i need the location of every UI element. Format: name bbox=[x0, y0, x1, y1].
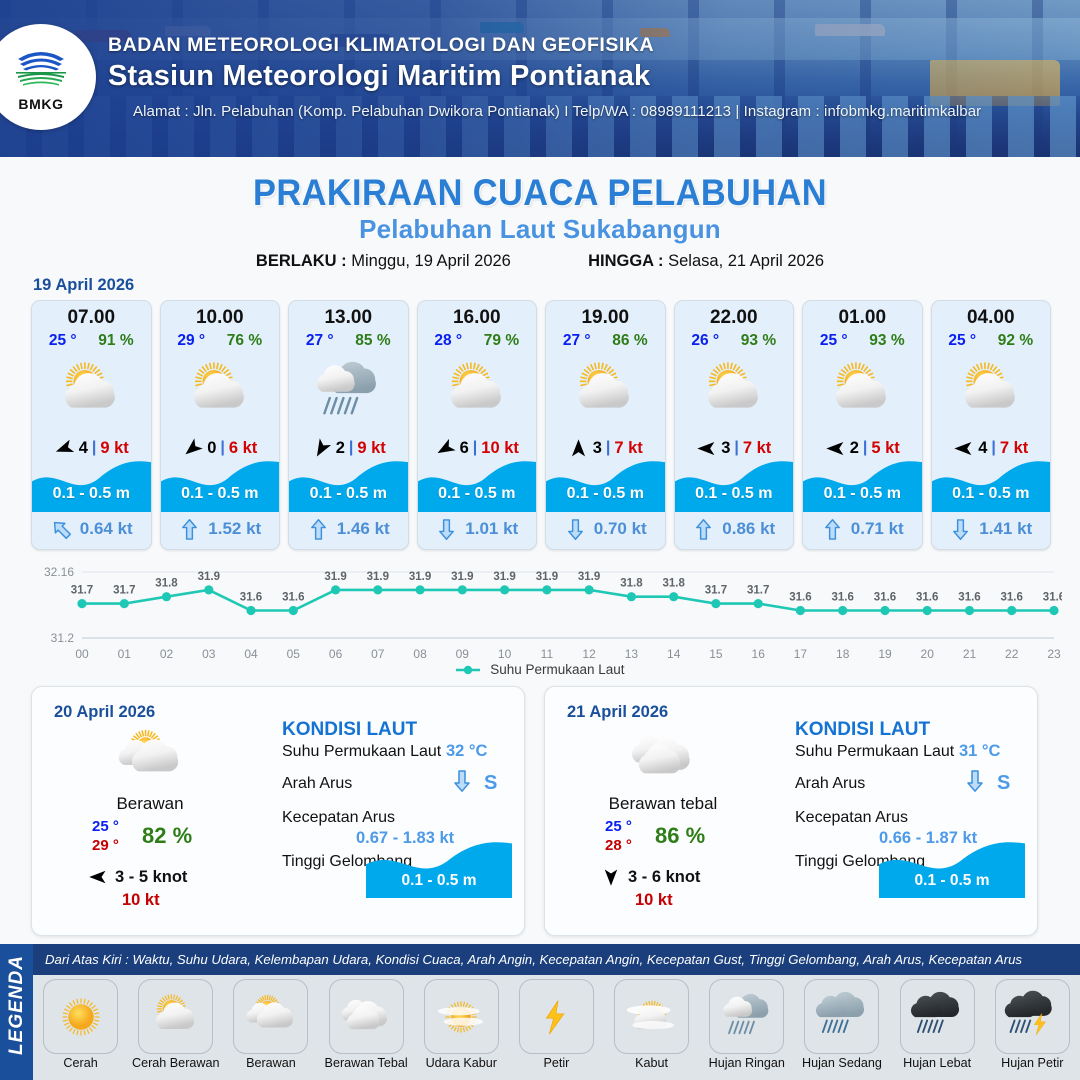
weather-icon-cerah-berawan bbox=[439, 354, 515, 430]
hour-card-time: 07.00 bbox=[32, 307, 151, 329]
legend-icon-box bbox=[995, 979, 1070, 1054]
legend-item-label: Berawan Tebal bbox=[325, 1057, 408, 1070]
svg-text:10: 10 bbox=[498, 647, 512, 661]
hour-card-temperature: 27 ° bbox=[563, 332, 591, 350]
hour-card-wave-height: 0.1 - 0.5 m bbox=[803, 485, 922, 503]
svg-text:22: 22 bbox=[1005, 647, 1019, 661]
wind-direction-arrow bbox=[435, 438, 456, 459]
svg-text:32.16: 32.16 bbox=[44, 565, 74, 579]
day-panel-current-dir-label: Arah Arus bbox=[282, 775, 352, 793]
hour-card-current: 0.71 kt bbox=[803, 513, 922, 545]
validity-row: BERLAKU : Minggu, 19 April 2026 HINGGA :… bbox=[0, 252, 1080, 271]
day-panel-temperatures: 25 °29 ° bbox=[92, 817, 119, 855]
day-panel-sea-title: KONDISI LAUT bbox=[795, 719, 930, 741]
day-panel-sst-value: 31 °C bbox=[959, 742, 1000, 761]
day-panel-temp-max: 29 ° bbox=[92, 836, 119, 855]
wind-separator: | bbox=[991, 439, 995, 457]
hour-card-wind-speed: 7 kt bbox=[1000, 439, 1028, 458]
wind-separator: | bbox=[92, 439, 96, 457]
legend-item-label: Hujan Ringan bbox=[709, 1057, 785, 1070]
hour-card-temperature: 25 ° bbox=[49, 332, 77, 350]
legend-item: Kabut bbox=[606, 979, 698, 1070]
svg-text:31.7: 31.7 bbox=[113, 585, 135, 597]
svg-text:31.7: 31.7 bbox=[71, 585, 93, 597]
current-direction-arrow bbox=[821, 518, 844, 541]
day-panel-temp-min: 25 ° bbox=[92, 817, 119, 836]
svg-text:05: 05 bbox=[287, 647, 301, 661]
wind-separator: | bbox=[220, 439, 224, 457]
page-title: PRAKIRAAN CUACA PELABUHAN bbox=[38, 172, 1042, 214]
svg-text:17: 17 bbox=[794, 647, 808, 661]
hour-card-temperature: 27 ° bbox=[306, 332, 334, 350]
day-panel-sst-label: Suhu Permukaan Laut bbox=[795, 743, 954, 761]
wind-direction-arrow bbox=[311, 438, 332, 459]
svg-text:20: 20 bbox=[921, 647, 935, 661]
legend-item-label: Kabut bbox=[635, 1057, 668, 1070]
hour-card-humidity: 79 % bbox=[484, 332, 519, 350]
hour-card-wind-speed: 7 kt bbox=[614, 439, 642, 458]
hour-card-wind-dir-value: 6 bbox=[460, 439, 469, 458]
hour-card-wave: 0.1 - 0.5 m bbox=[418, 461, 537, 512]
svg-text:31.9: 31.9 bbox=[198, 571, 220, 583]
weather-icon-berawan bbox=[113, 721, 187, 795]
svg-text:31.6: 31.6 bbox=[1001, 592, 1023, 604]
wind-direction-arrow bbox=[601, 867, 621, 887]
svg-text:31.9: 31.9 bbox=[493, 571, 515, 583]
hour-card-wave: 0.1 - 0.5 m bbox=[675, 461, 794, 512]
svg-text:16: 16 bbox=[752, 647, 766, 661]
hour-card-current-speed: 1.41 kt bbox=[979, 519, 1032, 539]
day-panel-sea-title: KONDISI LAUT bbox=[282, 719, 417, 741]
day-panel-current-dir-arrow bbox=[963, 769, 987, 798]
valid-from-value: Minggu, 19 April 2026 bbox=[351, 252, 511, 270]
legend-item-label: Berawan bbox=[246, 1057, 296, 1070]
svg-text:31.6: 31.6 bbox=[282, 592, 304, 604]
svg-text:31.8: 31.8 bbox=[620, 578, 643, 590]
hour-card-current: 0.64 kt bbox=[32, 513, 151, 545]
hourly-date-label: 19 April 2026 bbox=[33, 276, 134, 295]
hour-card-temp-hum: 27 °86 % bbox=[546, 332, 665, 350]
day-panel-temp-min: 25 ° bbox=[605, 817, 632, 836]
hour-card-wind: 6|10 kt bbox=[418, 432, 537, 464]
hour-card-wave-height: 0.1 - 0.5 m bbox=[32, 485, 151, 503]
hour-card-time: 22.00 bbox=[675, 307, 794, 329]
legend-item: Hujan Lebat bbox=[891, 979, 983, 1070]
hour-card-current: 1.46 kt bbox=[289, 513, 408, 545]
hour-card-wind-speed: 10 kt bbox=[481, 439, 519, 458]
legenda-strip-label: LEGENDA bbox=[6, 946, 28, 1064]
legend-item: Berawan Tebal bbox=[320, 979, 412, 1070]
svg-text:31.6: 31.6 bbox=[874, 592, 896, 604]
svg-text:09: 09 bbox=[456, 647, 470, 661]
svg-text:31.8: 31.8 bbox=[663, 578, 686, 590]
day-panel-current-dir-value: S bbox=[997, 772, 1010, 795]
hour-card[interactable]: 13.0027 °85 %2|9 kt0.1 - 0.5 m1.46 kt bbox=[288, 300, 409, 550]
hour-card-wind-dir-value: 3 bbox=[721, 439, 730, 458]
weather-icon-cerah-berawan bbox=[953, 354, 1029, 430]
hour-card-wind-speed: 6 kt bbox=[229, 439, 257, 458]
hour-card-current-speed: 0.86 kt bbox=[722, 519, 775, 539]
page-header: BMKG BADAN METEOROLOGI KLIMATOLOGI DAN G… bbox=[0, 0, 1080, 157]
valid-from-label: BERLAKU : bbox=[256, 252, 347, 270]
day-panel-sst-label: Suhu Permukaan Laut bbox=[282, 743, 441, 761]
svg-text:31.7: 31.7 bbox=[705, 585, 727, 597]
legend-item-label: Hujan Sedang bbox=[802, 1057, 882, 1070]
day-panel-wave-graphic: 0.1 - 0.5 m bbox=[879, 842, 1025, 898]
weather-icon-udara-kabur bbox=[432, 988, 490, 1046]
day-panel-sst-value: 32 °C bbox=[446, 742, 487, 761]
day-panel-humidity: 86 % bbox=[655, 823, 705, 849]
hour-card-time: 13.00 bbox=[289, 307, 408, 329]
legend-item: Hujan Ringan bbox=[701, 979, 793, 1070]
day-panel-wave-value: 0.1 - 0.5 m bbox=[879, 872, 1025, 890]
hour-card-wind: 3|7 kt bbox=[546, 432, 665, 464]
hour-card[interactable]: 19.0027 °86 %3|7 kt0.1 - 0.5 m0.70 kt bbox=[545, 300, 666, 550]
day-panel-wind-range: 3 - 6 knot bbox=[628, 868, 700, 887]
hour-card-current-speed: 1.01 kt bbox=[465, 519, 518, 539]
hour-card-temperature: 25 ° bbox=[820, 332, 848, 350]
hour-card-wave: 0.1 - 0.5 m bbox=[932, 461, 1051, 512]
day-panel-weather-icon bbox=[90, 727, 210, 789]
hour-card-wind: 4|9 kt bbox=[32, 432, 151, 464]
hour-card-temp-hum: 29 °76 % bbox=[161, 332, 280, 350]
hour-card-weather-icon bbox=[289, 353, 408, 431]
hour-card[interactable]: 10.0029 °76 %0|6 kt0.1 - 0.5 m1.52 kt bbox=[160, 300, 281, 550]
legend-note: Dari Atas Kiri : Waktu, Suhu Udara, Kele… bbox=[33, 944, 1080, 975]
legend-icon-box bbox=[424, 979, 499, 1054]
current-direction-arrow bbox=[435, 518, 458, 541]
hour-card-temperature: 25 ° bbox=[948, 332, 976, 350]
hour-card-wind-dir-value: 4 bbox=[79, 439, 88, 458]
day-panel-gust: 10 kt bbox=[635, 891, 673, 910]
hour-card-current: 1.52 kt bbox=[161, 513, 280, 545]
hour-card-humidity: 92 % bbox=[998, 332, 1033, 350]
svg-text:31.6: 31.6 bbox=[1043, 592, 1062, 604]
legend-item-label: Cerah Berawan bbox=[132, 1057, 220, 1070]
hour-card-wind-speed: 9 kt bbox=[357, 439, 385, 458]
hour-card-temp-hum: 26 °93 % bbox=[675, 332, 794, 350]
hour-card-wave-height: 0.1 - 0.5 m bbox=[675, 485, 794, 503]
svg-text:07: 07 bbox=[371, 647, 385, 661]
wind-direction-arrow bbox=[88, 867, 108, 887]
hour-card-temp-hum: 25 °93 % bbox=[803, 332, 922, 350]
hour-card-current-speed: 1.46 kt bbox=[337, 519, 390, 539]
hour-card-temperature: 28 ° bbox=[434, 332, 462, 350]
day-panel-current-speed-label: Kecepatan Arus bbox=[795, 809, 908, 827]
hourly-forecast-cards: 07.0025 °91 %4|9 kt0.1 - 0.5 m0.64 kt10.… bbox=[31, 300, 1051, 548]
hour-card-current: 1.01 kt bbox=[418, 513, 537, 545]
day-panel-wave-graphic: 0.1 - 0.5 m bbox=[366, 842, 512, 898]
page-subtitle: Pelabuhan Laut Sukabangun bbox=[0, 214, 1080, 245]
svg-text:31.2: 31.2 bbox=[51, 631, 75, 645]
hour-card-current-speed: 0.64 kt bbox=[80, 519, 133, 539]
hour-card-wind: 4|7 kt bbox=[932, 432, 1051, 464]
legend-label: Suhu Permukaan Laut bbox=[490, 662, 624, 677]
valid-until-label: HINGGA : bbox=[588, 252, 663, 270]
hour-card-time: 01.00 bbox=[803, 307, 922, 329]
day-panel-current-speed-label: Kecepatan Arus bbox=[282, 809, 395, 827]
hour-card-wave: 0.1 - 0.5 m bbox=[161, 461, 280, 512]
station-address: Alamat : Jln. Pelabuhan (Komp. Pelabuhan… bbox=[133, 103, 981, 120]
hour-card-humidity: 85 % bbox=[355, 332, 390, 350]
hour-card-current: 1.41 kt bbox=[932, 513, 1051, 545]
legend-item-label: Cerah bbox=[63, 1057, 97, 1070]
hour-card-humidity: 86 % bbox=[612, 332, 647, 350]
svg-text:31.8: 31.8 bbox=[155, 578, 178, 590]
day-panel-weather-icon bbox=[603, 727, 723, 789]
bmkg-logo-text: BMKG bbox=[18, 96, 63, 112]
day-panel-20-april: 20 April 2026Berawan25 °29 °82 %3 - 5 kn… bbox=[31, 686, 525, 936]
weather-icon-cerah-berawan bbox=[147, 988, 205, 1046]
sst-chart-legend: Suhu Permukaan Laut bbox=[0, 662, 1080, 677]
weather-icon-cerah-berawan bbox=[824, 354, 900, 430]
hour-card-wave-height: 0.1 - 0.5 m bbox=[289, 485, 408, 503]
weather-icon-kabut bbox=[623, 988, 681, 1046]
hour-card-wind-dir-value: 0 bbox=[207, 439, 216, 458]
hour-card-wind: 2|9 kt bbox=[289, 432, 408, 464]
day-panel-temperatures: 25 °28 ° bbox=[605, 817, 632, 855]
svg-text:12: 12 bbox=[582, 647, 596, 661]
hour-card-weather-icon bbox=[546, 353, 665, 431]
hour-card-wind: 3|7 kt bbox=[675, 432, 794, 464]
hour-card-weather-icon bbox=[418, 353, 537, 431]
weather-icon-hujan-ringan bbox=[310, 354, 386, 430]
hour-card-wave: 0.1 - 0.5 m bbox=[32, 461, 151, 512]
legend-item-label: Hujan Petir bbox=[1001, 1057, 1063, 1070]
hour-card-weather-icon bbox=[161, 353, 280, 431]
hour-card-wave-height: 0.1 - 0.5 m bbox=[546, 485, 665, 503]
svg-text:31.6: 31.6 bbox=[789, 592, 811, 604]
valid-until-value: Selasa, 21 April 2026 bbox=[668, 252, 824, 270]
hour-card-wave: 0.1 - 0.5 m bbox=[289, 461, 408, 512]
weather-icon-cerah-berawan bbox=[696, 354, 772, 430]
weather-icon-cerah bbox=[52, 988, 110, 1046]
agency-name: BADAN METEOROLOGI KLIMATOLOGI DAN GEOFIS… bbox=[108, 34, 654, 57]
hour-card-weather-icon bbox=[675, 353, 794, 431]
current-direction-arrow bbox=[178, 518, 201, 541]
weather-icon-berawan bbox=[242, 988, 300, 1046]
legend-bar: LEGENDA Dari Atas Kiri : Waktu, Suhu Uda… bbox=[0, 944, 1080, 1080]
svg-text:18: 18 bbox=[836, 647, 850, 661]
day-panel-wind-range: 3 - 5 knot bbox=[115, 868, 187, 887]
hour-card[interactable]: 07.0025 °91 %4|9 kt0.1 - 0.5 m0.64 kt bbox=[31, 300, 152, 550]
hour-card-time: 19.00 bbox=[546, 307, 665, 329]
day-panel-wave-value: 0.1 - 0.5 m bbox=[366, 872, 512, 890]
svg-text:19: 19 bbox=[878, 647, 892, 661]
hour-card-wind-speed: 9 kt bbox=[100, 439, 128, 458]
hour-card-humidity: 76 % bbox=[227, 332, 262, 350]
legend-item: Cerah Berawan bbox=[130, 979, 222, 1070]
legend-icon-box bbox=[519, 979, 594, 1054]
legend-item: Udara Kabur bbox=[415, 979, 507, 1070]
hour-card[interactable]: 22.0026 °93 %3|7 kt0.1 - 0.5 m0.86 kt bbox=[674, 300, 795, 550]
svg-text:02: 02 bbox=[160, 647, 174, 661]
svg-text:31.9: 31.9 bbox=[324, 571, 346, 583]
svg-text:31.6: 31.6 bbox=[916, 592, 938, 604]
weather-icon-cerah-berawan bbox=[53, 354, 129, 430]
svg-text:14: 14 bbox=[667, 647, 681, 661]
hour-card-wind-dir-value: 3 bbox=[593, 439, 602, 458]
hour-card-time: 16.00 bbox=[418, 307, 537, 329]
svg-text:06: 06 bbox=[329, 647, 343, 661]
current-direction-arrow bbox=[450, 769, 474, 793]
svg-text:31.9: 31.9 bbox=[578, 571, 600, 583]
weather-icon-hujan-sedang bbox=[813, 988, 871, 1046]
hour-card-wind-dir-value: 4 bbox=[978, 439, 987, 458]
svg-text:15: 15 bbox=[709, 647, 723, 661]
hour-card-humidity: 93 % bbox=[869, 332, 904, 350]
svg-text:01: 01 bbox=[118, 647, 132, 661]
legend-icon-box bbox=[900, 979, 975, 1054]
legend-icon-box bbox=[138, 979, 213, 1054]
hour-card-weather-icon bbox=[32, 353, 151, 431]
weather-icon-petir bbox=[527, 988, 585, 1046]
wind-separator: | bbox=[863, 439, 867, 457]
hour-card-weather-icon bbox=[932, 353, 1051, 431]
hour-card-temp-hum: 28 °79 % bbox=[418, 332, 537, 350]
current-direction-arrow bbox=[307, 518, 330, 541]
weather-icon-hujan-ringan bbox=[718, 988, 776, 1046]
current-direction-arrow bbox=[692, 518, 715, 541]
legend-item-label: Petir bbox=[543, 1057, 569, 1070]
day-panel-current-dir-value: S bbox=[484, 772, 497, 795]
hour-card-wind-speed: 7 kt bbox=[743, 439, 771, 458]
hour-card-wave: 0.1 - 0.5 m bbox=[803, 461, 922, 512]
weather-icon-hujan-petir bbox=[1003, 988, 1061, 1046]
hour-card-wind-dir-value: 2 bbox=[336, 439, 345, 458]
wind-direction-arrow bbox=[696, 438, 717, 459]
day-panel-wind: 3 - 5 knot bbox=[88, 867, 187, 887]
wind-separator: | bbox=[734, 439, 738, 457]
wind-direction-arrow bbox=[568, 438, 589, 459]
hour-card[interactable]: 01.0025 °93 %2|5 kt0.1 - 0.5 m0.71 kt bbox=[802, 300, 923, 550]
hour-card[interactable]: 16.0028 °79 %6|10 kt0.1 - 0.5 m1.01 kt bbox=[417, 300, 538, 550]
svg-text:31.7: 31.7 bbox=[747, 585, 769, 597]
svg-text:00: 00 bbox=[75, 647, 89, 661]
day-panel-gust: 10 kt bbox=[122, 891, 160, 910]
hour-card-wind: 0|6 kt bbox=[161, 432, 280, 464]
svg-text:31.6: 31.6 bbox=[958, 592, 980, 604]
hour-card-current: 0.70 kt bbox=[546, 513, 665, 545]
weather-icon-cerah-berawan bbox=[567, 354, 643, 430]
weather-icon-hujan-lebat bbox=[908, 988, 966, 1046]
svg-text:08: 08 bbox=[413, 647, 427, 661]
wind-separator: | bbox=[349, 439, 353, 457]
wind-direction-arrow bbox=[825, 438, 846, 459]
legenda-strip: LEGENDA bbox=[0, 944, 33, 1080]
day-panel-current-dir-label: Arah Arus bbox=[795, 775, 865, 793]
day-panel-condition: Berawan bbox=[32, 794, 268, 814]
hour-card-temp-hum: 25 °91 % bbox=[32, 332, 151, 350]
hour-card-temperature: 29 ° bbox=[177, 332, 205, 350]
legend-item: Cerah bbox=[35, 979, 127, 1070]
hour-card[interactable]: 04.0025 °92 %4|7 kt0.1 - 0.5 m1.41 kt bbox=[931, 300, 1052, 550]
legend-icon-box bbox=[709, 979, 784, 1054]
current-direction-arrow bbox=[963, 769, 987, 793]
day-panel-temp-max: 28 ° bbox=[605, 836, 632, 855]
station-name: Stasiun Meteorologi Maritim Pontianak bbox=[108, 60, 650, 93]
wind-direction-arrow bbox=[54, 438, 75, 459]
legend-line-marker bbox=[455, 665, 481, 675]
svg-text:31.9: 31.9 bbox=[409, 571, 431, 583]
hour-card-time: 04.00 bbox=[932, 307, 1051, 329]
hour-card-current: 0.86 kt bbox=[675, 513, 794, 545]
day-panel-wind: 3 - 6 knot bbox=[601, 867, 700, 887]
hour-card-humidity: 91 % bbox=[98, 332, 133, 350]
hour-card-temp-hum: 25 °92 % bbox=[932, 332, 1051, 350]
wind-direction-arrow bbox=[182, 438, 203, 459]
hour-card-temperature: 26 ° bbox=[691, 332, 719, 350]
legend-icon-box bbox=[329, 979, 404, 1054]
wind-separator: | bbox=[473, 439, 477, 457]
svg-text:03: 03 bbox=[202, 647, 216, 661]
current-direction-arrow bbox=[50, 518, 73, 541]
legend-icon-box bbox=[614, 979, 689, 1054]
hour-card-time: 10.00 bbox=[161, 307, 280, 329]
svg-text:11: 11 bbox=[541, 647, 554, 661]
bmkg-logo-mark bbox=[10, 43, 72, 95]
hour-card-temp-hum: 27 °85 % bbox=[289, 332, 408, 350]
day-panel-21-april: 21 April 2026Berawan tebal25 °28 °86 %3 … bbox=[544, 686, 1038, 936]
wind-separator: | bbox=[606, 439, 610, 457]
hour-card-wave-height: 0.1 - 0.5 m bbox=[418, 485, 537, 503]
hour-card-wind-speed: 5 kt bbox=[871, 439, 899, 458]
legend-icon-box bbox=[233, 979, 308, 1054]
legend-item: Petir bbox=[510, 979, 602, 1070]
legend-item-label: Hujan Lebat bbox=[903, 1057, 971, 1070]
legend-item: Hujan Petir bbox=[986, 979, 1078, 1070]
legend-icon-box bbox=[804, 979, 879, 1054]
svg-text:23: 23 bbox=[1047, 647, 1061, 661]
svg-text:31.9: 31.9 bbox=[367, 571, 389, 583]
weather-icon-berawan-tebal bbox=[337, 988, 395, 1046]
weather-icon-cerah-berawan bbox=[182, 354, 258, 430]
svg-text:31.9: 31.9 bbox=[536, 571, 558, 583]
weather-icon-berawan-tebal bbox=[626, 721, 700, 795]
hour-card-wave-height: 0.1 - 0.5 m bbox=[932, 485, 1051, 503]
svg-text:21: 21 bbox=[963, 647, 977, 661]
hour-card-wind-dir-value: 2 bbox=[850, 439, 859, 458]
hour-card-weather-icon bbox=[803, 353, 922, 431]
day-panel-date: 21 April 2026 bbox=[567, 703, 668, 722]
svg-text:31.6: 31.6 bbox=[832, 592, 854, 604]
day-panel-current-dir-arrow bbox=[450, 769, 474, 798]
wind-direction-arrow bbox=[953, 438, 974, 459]
hour-card-current-speed: 0.71 kt bbox=[851, 519, 904, 539]
legend-icon-box bbox=[43, 979, 118, 1054]
current-direction-arrow bbox=[564, 518, 587, 541]
hour-card-current-speed: 0.70 kt bbox=[594, 519, 647, 539]
current-direction-arrow bbox=[949, 518, 972, 541]
day-panel-condition: Berawan tebal bbox=[545, 794, 781, 814]
day-panel-date: 20 April 2026 bbox=[54, 703, 155, 722]
hour-card-wave-height: 0.1 - 0.5 m bbox=[161, 485, 280, 503]
hour-card-wind: 2|5 kt bbox=[803, 432, 922, 464]
legend-item-label: Udara Kabur bbox=[426, 1057, 497, 1070]
hour-card-humidity: 93 % bbox=[741, 332, 776, 350]
svg-text:04: 04 bbox=[244, 647, 258, 661]
legend-item: Berawan bbox=[225, 979, 317, 1070]
legend-item: Hujan Sedang bbox=[796, 979, 888, 1070]
day-panel-humidity: 82 % bbox=[142, 823, 192, 849]
hour-card-wave: 0.1 - 0.5 m bbox=[546, 461, 665, 512]
hour-card-current-speed: 1.52 kt bbox=[208, 519, 261, 539]
svg-text:13: 13 bbox=[625, 647, 639, 661]
svg-text:31.6: 31.6 bbox=[240, 592, 262, 604]
legend-items: CerahCerah BerawanBerawanBerawan TebalUd… bbox=[33, 977, 1080, 1080]
svg-text:31.9: 31.9 bbox=[451, 571, 473, 583]
